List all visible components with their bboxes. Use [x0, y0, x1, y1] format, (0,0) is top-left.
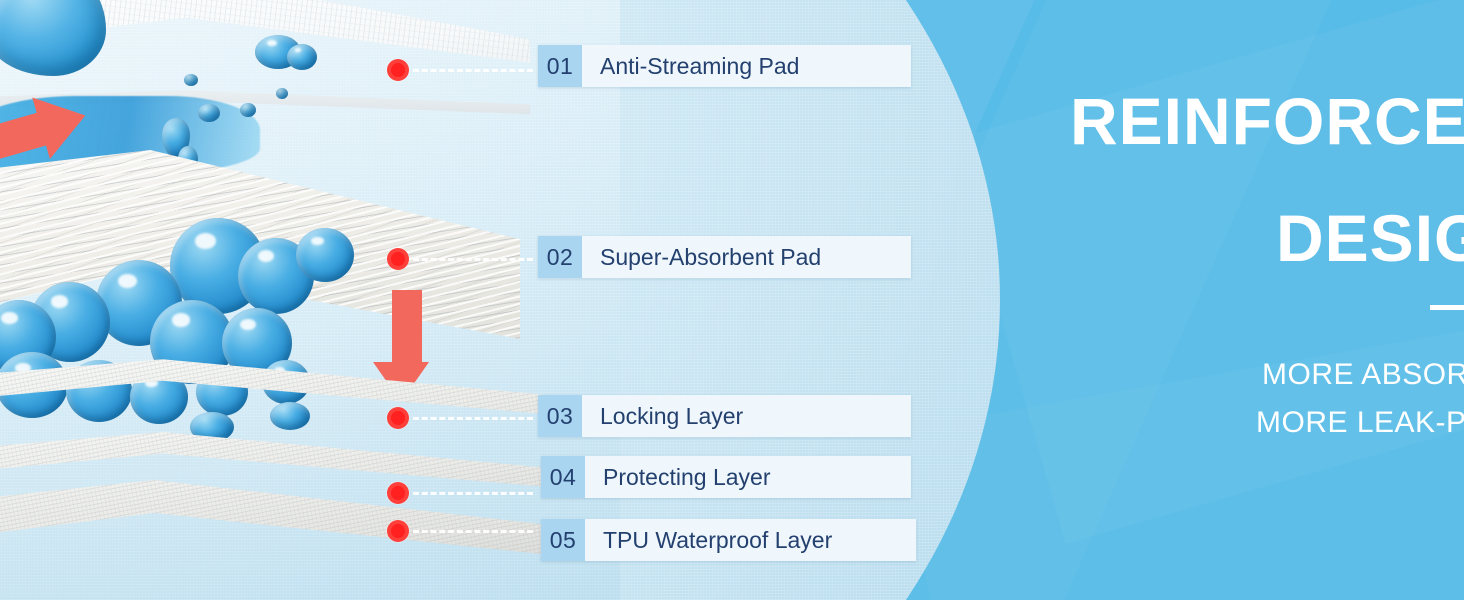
layer-name-05: TPU Waterproof Layer	[585, 519, 916, 561]
leader-line-05	[413, 530, 533, 533]
layer-number-01: 01	[538, 45, 582, 87]
callout-marker-04[interactable]	[387, 482, 409, 504]
headline-line-2: DESIGN	[1276, 205, 1464, 271]
water-droplet-large	[0, 0, 106, 76]
layer-name-03: Locking Layer	[582, 395, 911, 437]
layer-name-02: Super-Absorbent Pad	[582, 236, 911, 278]
layer-name-01: Anti-Streaming Pad	[582, 45, 911, 87]
callout-marker-03[interactable]	[387, 407, 409, 429]
water-droplet	[240, 103, 256, 117]
water-droplet	[287, 44, 317, 70]
layer-label-02[interactable]: 02 Super-Absorbent Pad	[538, 236, 911, 278]
callout-marker-01[interactable]	[387, 59, 409, 81]
water-droplet	[296, 228, 354, 282]
layer-label-03[interactable]: 03 Locking Layer	[538, 395, 911, 437]
layer-number-03: 03	[538, 395, 582, 437]
layer-label-04[interactable]: 04 Protecting Layer	[541, 456, 911, 498]
water-droplet	[184, 74, 198, 86]
leader-line-04	[413, 492, 533, 495]
water-droplet	[198, 104, 220, 122]
callout-marker-05[interactable]	[387, 520, 409, 542]
layer-label-05[interactable]: 05 TPU Waterproof Layer	[541, 519, 916, 561]
subheadline-line-1: MORE ABSORBENT	[1262, 358, 1464, 392]
layer-name-04: Protecting Layer	[585, 456, 911, 498]
water-droplet	[276, 88, 288, 99]
layer-number-05: 05	[541, 519, 585, 561]
callout-marker-02[interactable]	[387, 248, 409, 270]
water-droplet	[270, 402, 310, 430]
leader-line-03	[413, 417, 533, 420]
product-layer-illustration	[0, 0, 560, 600]
headline-line-1: REINFORCED	[1070, 88, 1464, 154]
subheadline-line-2: MORE LEAK-PROOF	[1256, 406, 1464, 440]
infographic-banner: 01 Anti-Streaming Pad 02 Super-Absorbent…	[0, 0, 1464, 600]
layer-number-04: 04	[541, 456, 585, 498]
leader-line-01	[413, 69, 533, 72]
headline-divider	[1430, 305, 1464, 310]
leader-line-02	[413, 258, 533, 261]
layer-number-02: 02	[538, 236, 582, 278]
layer-label-01[interactable]: 01 Anti-Streaming Pad	[538, 45, 911, 87]
